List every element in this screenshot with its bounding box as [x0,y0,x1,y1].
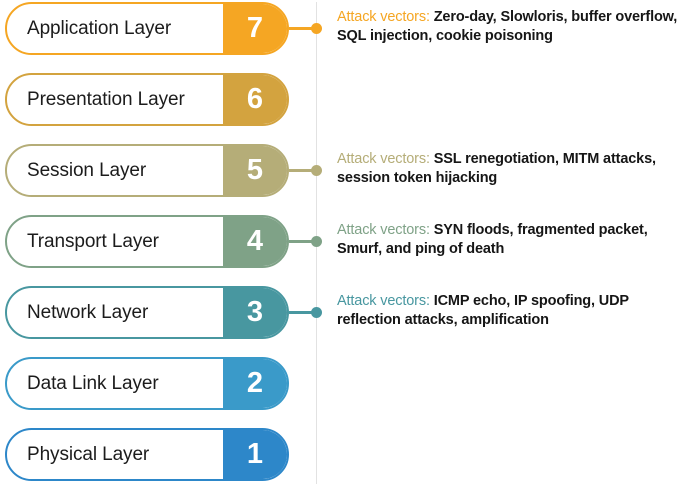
layer-pill-3[interactable]: Network Layer3 [5,286,289,339]
layer-number: 1 [247,440,265,469]
connector-dot-5 [311,165,322,176]
layer-number: 3 [247,298,265,327]
attack-vectors-label: Attack vectors: [337,222,430,238]
layer-row: Data Link Layer2 [0,357,316,414]
layer-name-label: Session Layer [27,146,146,195]
layer-number-cap: 7 [223,2,289,55]
layer-number-cap: 2 [223,357,289,410]
layer-name-label: Application Layer [27,4,171,53]
attack-vectors-annotation-5: Attack vectors: SSL renegotiation, MITM … [337,150,689,188]
layer-number: 2 [247,369,265,398]
layer-number-cap: 4 [223,215,289,268]
layer-pill-4[interactable]: Transport Layer4 [5,215,289,268]
osi-layer-diagram: Application Layer7Presentation Layer6Ses… [0,0,694,486]
layer-name-label: Transport Layer [27,217,159,266]
layer-pill-6[interactable]: Presentation Layer6 [5,73,289,126]
layer-row: Network Layer3 [0,286,316,343]
layer-row: Physical Layer1 [0,428,316,485]
layer-row: Session Layer5 [0,144,316,201]
layer-number: 7 [247,14,265,43]
attack-vectors-label: Attack vectors: [337,9,430,25]
attack-vectors-annotation-4: Attack vectors: SYN floods, fragmented p… [337,221,689,259]
attack-vectors-annotation-3: Attack vectors: ICMP echo, IP spoofing, … [337,292,689,330]
layer-row: Presentation Layer6 [0,73,316,130]
layer-number-cap: 6 [223,73,289,126]
layer-number: 5 [247,156,265,185]
layer-number-cap: 3 [223,286,289,339]
layer-name-label: Presentation Layer [27,75,185,124]
layer-name-label: Physical Layer [27,430,149,479]
connector-dot-4 [311,236,322,247]
attack-vectors-label: Attack vectors: [337,293,430,309]
layer-pill-7[interactable]: Application Layer7 [5,2,289,55]
attack-vectors-label: Attack vectors: [337,151,430,167]
layer-pill-1[interactable]: Physical Layer1 [5,428,289,481]
layer-pill-5[interactable]: Session Layer5 [5,144,289,197]
connector-dot-7 [311,23,322,34]
layer-number: 6 [247,85,265,114]
connector-dot-3 [311,307,322,318]
layer-number-cap: 5 [223,144,289,197]
layer-number-cap: 1 [223,428,289,481]
layer-name-label: Network Layer [27,288,148,337]
layer-number: 4 [247,227,265,256]
layer-row: Transport Layer4 [0,215,316,272]
attack-vectors-annotation-7: Attack vectors: Zero-day, Slowloris, buf… [337,8,689,46]
layer-row: Application Layer7 [0,2,316,59]
layer-name-label: Data Link Layer [27,359,159,408]
layer-pill-2[interactable]: Data Link Layer2 [5,357,289,410]
